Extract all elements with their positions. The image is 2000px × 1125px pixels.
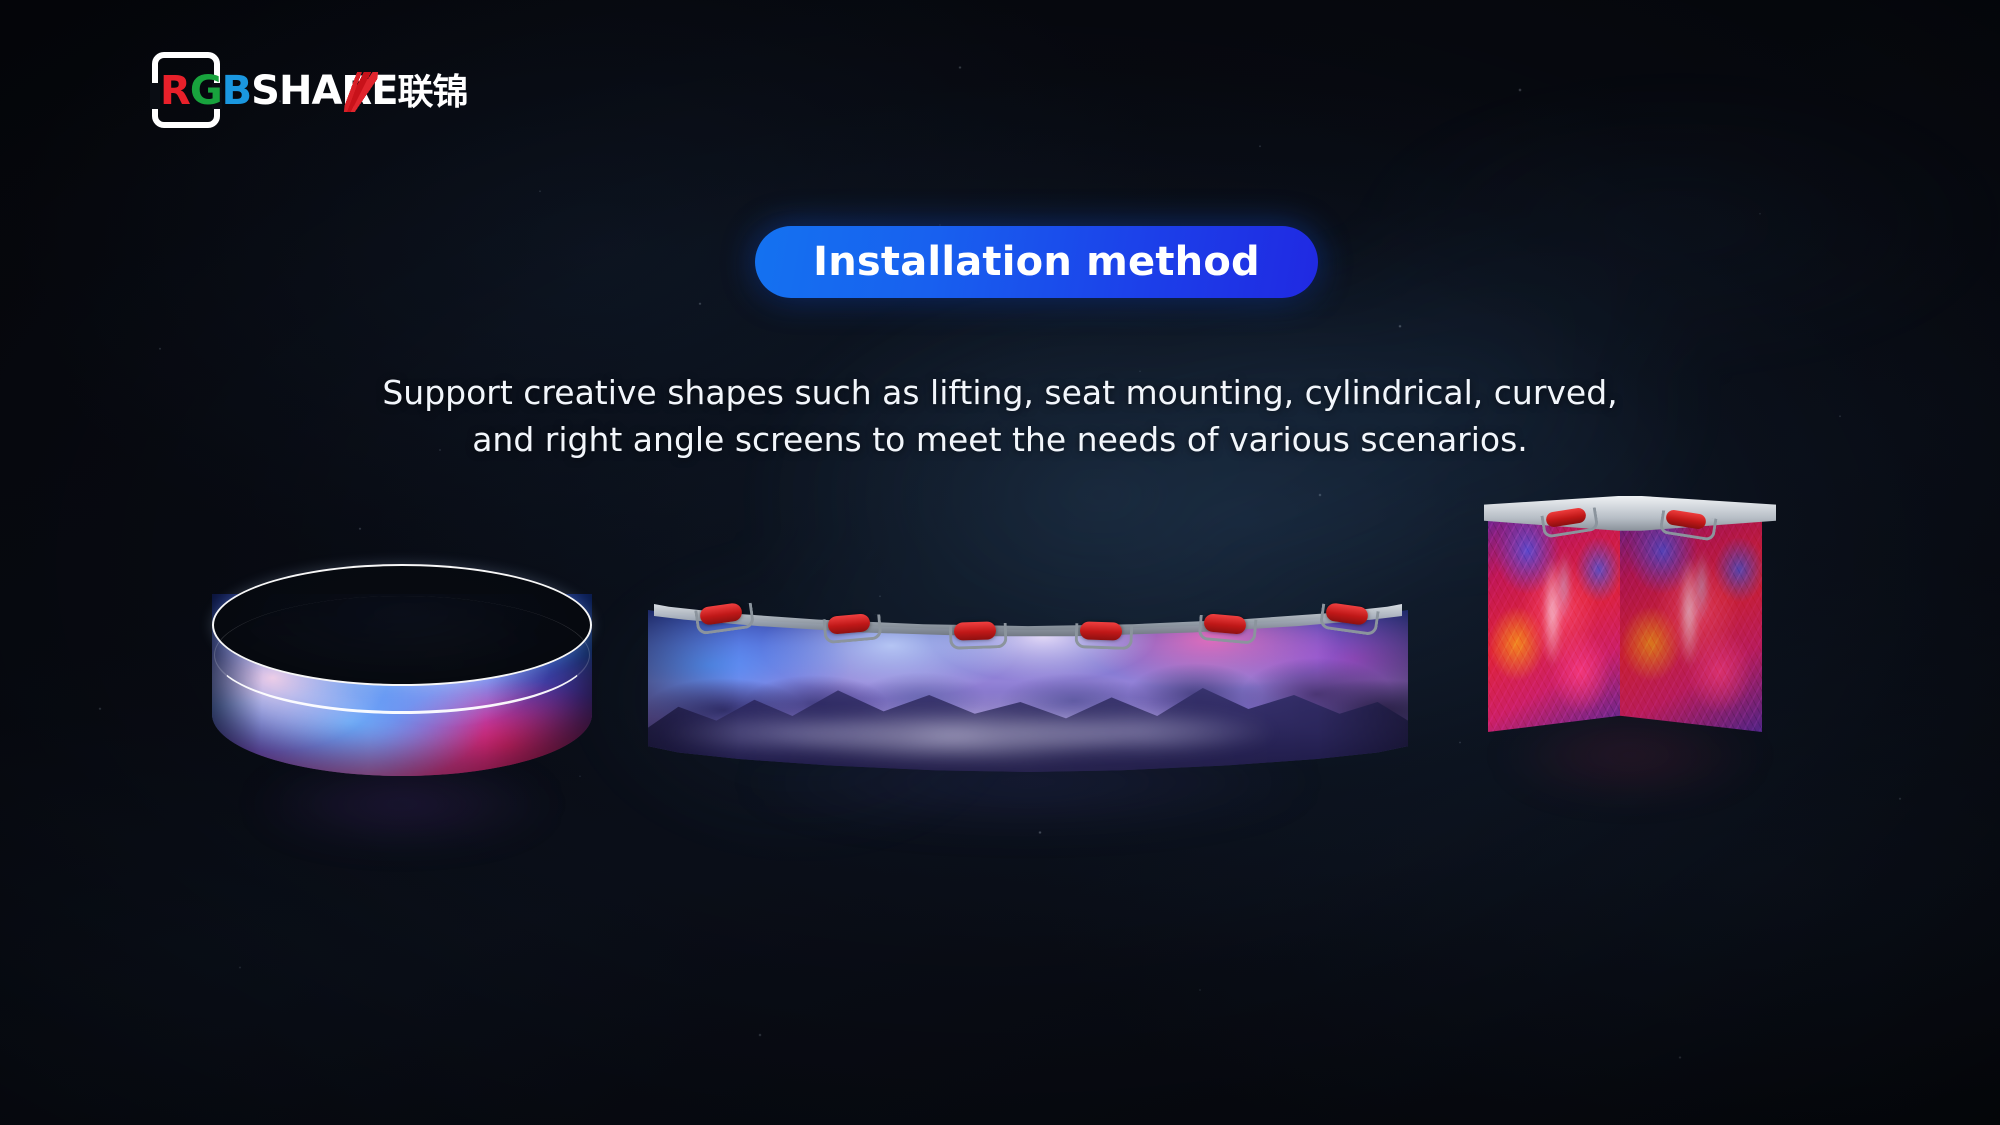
gallery-item-right-angle-screen[interactable]: [1470, 500, 1790, 800]
logo-wordmark: RGBSHARE联锦: [160, 71, 468, 111]
curved-handle[interactable]: [1203, 613, 1246, 635]
section-title-pill: Installation method: [755, 226, 1318, 298]
cylindrical-top-rim: [212, 564, 592, 686]
gallery-item-curved-screen[interactable]: [648, 602, 1408, 802]
slide-canvas: RGBSHARE联锦 Installation method Support c…: [0, 0, 2000, 1125]
logo-share-text: SHARE: [251, 68, 397, 114]
curved-handle[interactable]: [827, 613, 870, 635]
curved-handle[interactable]: [1325, 602, 1369, 626]
gallery-item-cylindrical-screen[interactable]: [212, 564, 592, 824]
section-subtitle: Support creative shapes such as lifting,…: [300, 370, 1700, 464]
corner-highlight-left: [1512, 523, 1596, 709]
page-title: Installation method: [813, 239, 1260, 285]
corner-highlight-right: [1646, 523, 1737, 709]
brand-logo[interactable]: RGBSHARE联锦: [150, 52, 460, 128]
logo-letter-g: G: [190, 68, 222, 114]
curved-handle[interactable]: [1080, 621, 1123, 640]
logo-letter-r: R: [160, 68, 190, 114]
subtitle-line-1: Support creative shapes such as lifting,…: [300, 370, 1700, 417]
curved-handle[interactable]: [954, 621, 997, 640]
curved-handle[interactable]: [699, 602, 743, 626]
logo-letter-b: B: [222, 68, 252, 114]
product-gallery: [0, 520, 2000, 920]
logo-chinese-text: 联锦: [398, 72, 468, 113]
curved-handle-group: [648, 602, 1408, 642]
subtitle-line-2: and right angle screens to meet the need…: [300, 417, 1700, 464]
